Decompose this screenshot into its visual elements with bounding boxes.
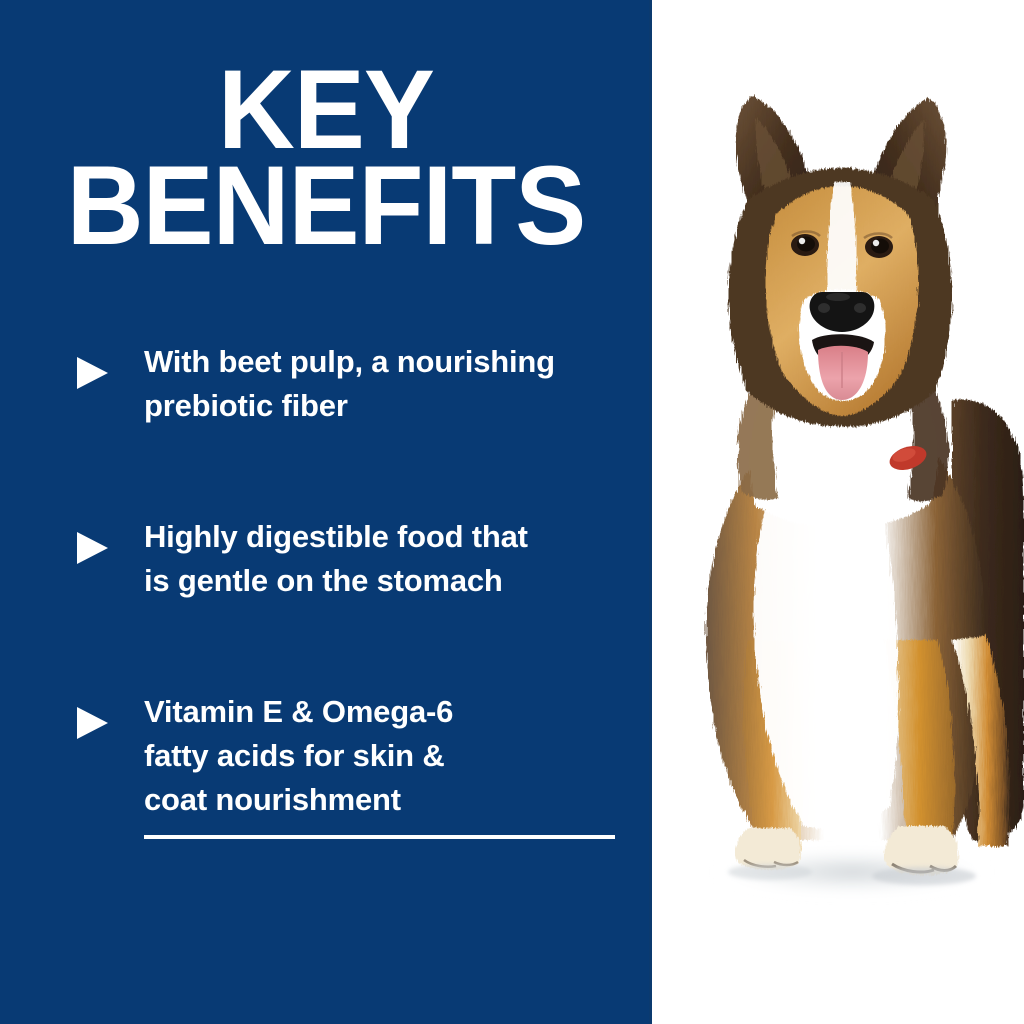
benefit-text-digestible: Highly digestible food that is gentle on… xyxy=(144,515,528,603)
benefit-line: coat nourishment xyxy=(144,778,453,822)
benefit-line: prebiotic fiber xyxy=(144,384,555,428)
triangle-right-icon xyxy=(75,356,109,390)
page-title-line-2: BENEFITS xyxy=(16,158,635,254)
benefit-line: Vitamin E & Omega-6 xyxy=(144,690,453,734)
benefit-line: fatty acids for skin & xyxy=(144,734,453,778)
divider-1 xyxy=(144,835,615,839)
page-title: KEY BENEFITS xyxy=(16,62,635,254)
benefit-item-vitamin-e-omega-6: Vitamin E & Omega-6 fatty acids for skin… xyxy=(0,690,652,822)
benefit-text-beet-pulp: With beet pulp, a nourishing prebiotic f… xyxy=(144,340,555,428)
benefit-line: is gentle on the stomach xyxy=(144,559,528,603)
benefits-list: With beet pulp, a nourishing prebiotic f… xyxy=(0,340,652,822)
triangle-right-icon xyxy=(75,531,109,565)
key-benefits-panel: KEY BENEFITS With beet pulp, a nourishin… xyxy=(0,0,1024,1024)
benefit-line: Highly digestible food that xyxy=(144,515,528,559)
benefit-text-vitamin-e-omega-6: Vitamin E & Omega-6 fatty acids for skin… xyxy=(144,690,453,822)
benefit-item-beet-pulp: With beet pulp, a nourishing prebiotic f… xyxy=(0,340,652,428)
benefit-line: With beet pulp, a nourishing xyxy=(144,340,555,384)
triangle-right-icon xyxy=(75,706,109,740)
benefit-item-digestible: Highly digestible food that is gentle on… xyxy=(0,515,652,603)
dog-photo xyxy=(652,0,1024,1024)
